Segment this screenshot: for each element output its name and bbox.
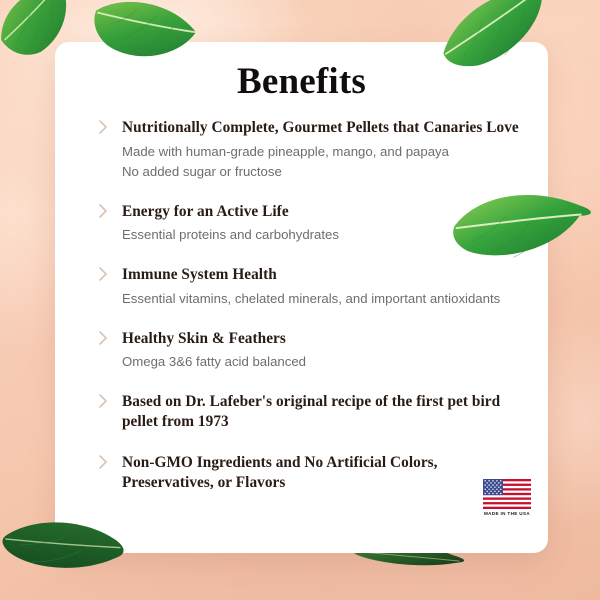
benefit-heading: Healthy Skin & Feathers (122, 329, 530, 349)
benefit-subtext: Essential proteins and carbohydrates (122, 225, 530, 245)
chevron-right-icon (98, 331, 108, 345)
list-item: Non-GMO Ingredients and No Artificial Co… (77, 453, 530, 492)
benefit-subtext: Essential vitamins, chelated minerals, a… (122, 289, 530, 309)
page-title: Benefits (55, 60, 548, 103)
badge-caption: MADE IN THE USA (483, 511, 531, 516)
chevron-right-icon (98, 204, 108, 218)
benefit-heading: Based on Dr. Lafeber's original recipe o… (122, 392, 530, 431)
list-item: Immune System Health Essential vitamins,… (77, 265, 530, 309)
chevron-right-icon (98, 120, 108, 134)
benefit-heading: Immune System Health (122, 265, 530, 285)
chevron-right-icon (98, 267, 108, 281)
benefits-card: Benefits Nutritionally Complete, Gourmet… (55, 42, 548, 553)
chevron-right-icon (98, 455, 108, 469)
benefits-list: Nutritionally Complete, Gourmet Pellets … (77, 118, 530, 496)
list-item: Nutritionally Complete, Gourmet Pellets … (77, 118, 530, 182)
made-in-usa-badge: MADE IN THE USA (483, 479, 531, 519)
list-item: Energy for an Active Life Essential prot… (77, 202, 530, 246)
benefit-heading: Nutritionally Complete, Gourmet Pellets … (122, 118, 530, 138)
benefit-subtext: Made with human-grade pineapple, mango, … (122, 142, 530, 162)
list-item: Healthy Skin & Feathers Omega 3&6 fatty … (77, 329, 530, 373)
benefit-heading: Non-GMO Ingredients and No Artificial Co… (122, 453, 467, 492)
usa-flag-icon (483, 479, 531, 509)
benefit-subtext: Omega 3&6 fatty acid balanced (122, 352, 530, 372)
list-item: Based on Dr. Lafeber's original recipe o… (77, 392, 530, 431)
benefit-subtext: No added sugar or fructose (122, 162, 530, 182)
poster-canvas: Benefits Nutritionally Complete, Gourmet… (0, 0, 600, 600)
chevron-right-icon (98, 394, 108, 408)
benefit-heading: Energy for an Active Life (122, 202, 530, 222)
